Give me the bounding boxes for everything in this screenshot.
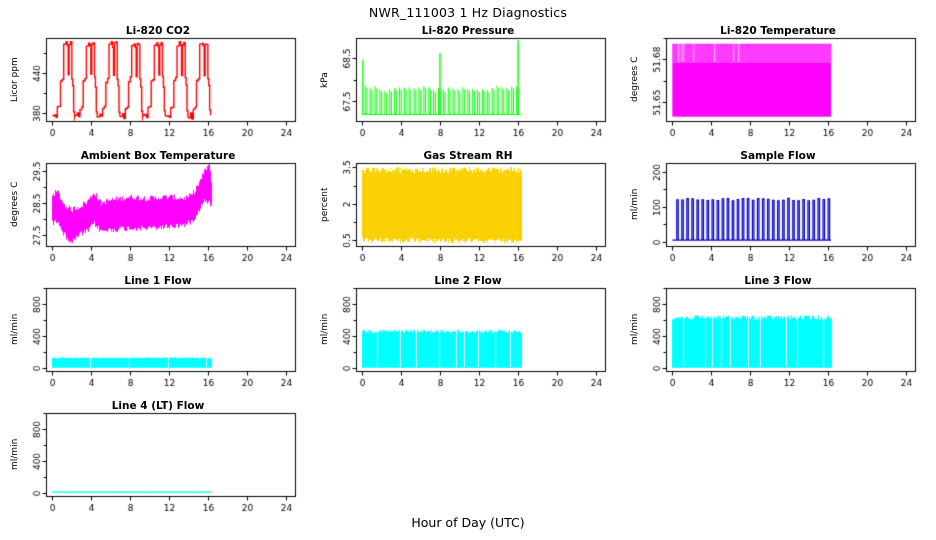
plot-canvas-line-2-flow <box>310 275 626 393</box>
y-axis-label-ambient-box-temperature: degrees C <box>10 182 20 227</box>
y-axis-label-line-2-flow: ml/min <box>320 314 330 345</box>
panel-ambient-box-temperature: Ambient Box Temperaturedegrees C <box>0 150 316 268</box>
y-axis-label-li820-temperature: degrees C <box>630 57 640 102</box>
plot-canvas-line-4-lt-flow <box>0 400 316 518</box>
y-axis-label-li820-pressure: kPa <box>320 72 330 88</box>
panel-line-1-flow: Line 1 Flowml/min <box>0 275 316 393</box>
panel-line-4-lt-flow: Line 4 (LT) Flowml/min <box>0 400 316 518</box>
plot-canvas-li820-temperature <box>620 25 936 143</box>
y-axis-label-sample-flow: ml/min <box>630 189 640 220</box>
plot-canvas-ambient-box-temperature <box>0 150 316 268</box>
y-axis-label-gas-stream-rh: percent <box>320 187 330 221</box>
panel-sample-flow: Sample Flowml/min <box>620 150 936 268</box>
panel-gas-stream-rh: Gas Stream RHpercent <box>310 150 626 268</box>
y-axis-label-li820-co2: Licor ppm <box>10 57 20 102</box>
panel-li820-pressure: Li-820 PressurekPa <box>310 25 626 143</box>
plot-canvas-sample-flow <box>620 150 936 268</box>
y-axis-label-line-4-lt-flow: ml/min <box>10 439 20 470</box>
panel-li820-co2: Li-820 CO2Licor ppm <box>0 25 316 143</box>
plot-canvas-line-3-flow <box>620 275 936 393</box>
panel-li820-temperature: Li-820 Temperaturedegrees C <box>620 25 936 143</box>
panel-line-2-flow: Line 2 Flowml/min <box>310 275 626 393</box>
plot-canvas-li820-pressure <box>310 25 626 143</box>
plot-canvas-li820-co2 <box>0 25 316 143</box>
panel-line-3-flow: Line 3 Flowml/min <box>620 275 936 393</box>
plot-canvas-gas-stream-rh <box>310 150 626 268</box>
y-axis-label-line-1-flow: ml/min <box>10 314 20 345</box>
plot-canvas-line-1-flow <box>0 275 316 393</box>
page-title: NWR_111003 1 Hz Diagnostics <box>0 5 936 20</box>
y-axis-label-line-3-flow: ml/min <box>630 314 640 345</box>
